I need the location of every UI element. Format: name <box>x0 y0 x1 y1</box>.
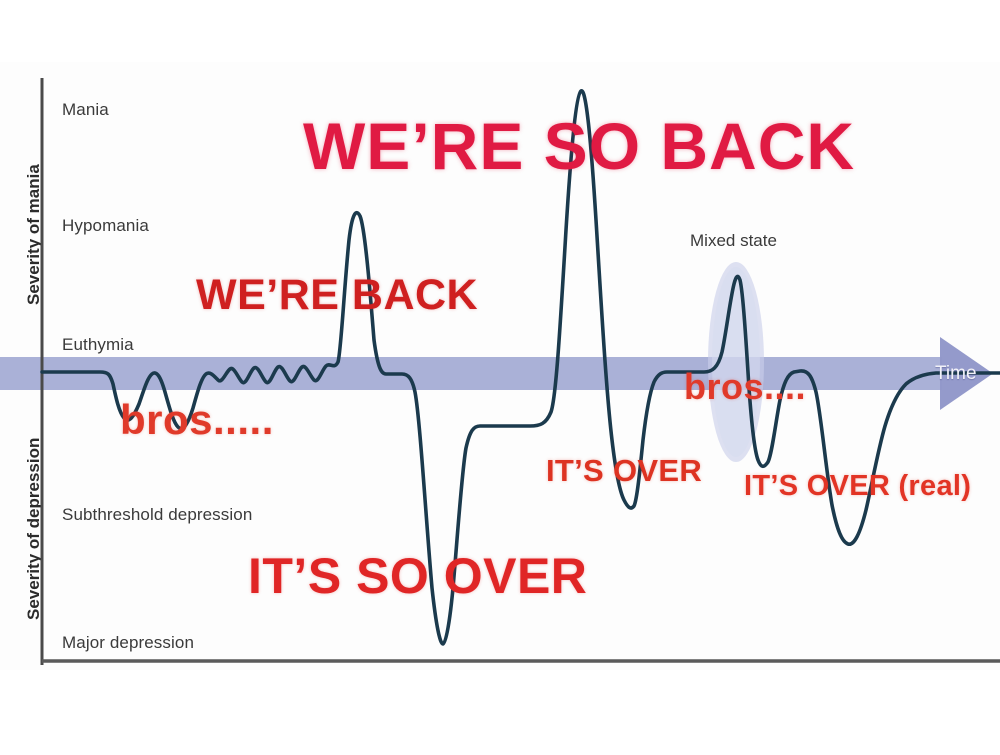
meme-text-its-so-over: IT’S SO OVER <box>248 547 587 605</box>
meme-text-were-back-label: WE’RE BACK <box>196 271 478 319</box>
meme-text-its-over: IT’S OVER <box>546 453 702 489</box>
chart-plot-area: Mania Hypomania Euthymia Subthreshold de… <box>0 0 1000 755</box>
meme-text-bros-left-label: bros..... <box>120 396 274 443</box>
meme-text-were-so-back: WE’RE SO BACK <box>303 108 855 184</box>
meme-text-its-so-over-label: IT’S SO OVER <box>248 548 587 604</box>
meme-text-its-over-real: IT’S OVER (real) <box>744 470 971 503</box>
meme-text-were-so-back-label: WE’RE SO BACK <box>303 109 855 183</box>
meme-text-bros-right-label: bros.... <box>684 366 806 407</box>
time-axis-label: Time <box>935 363 977 385</box>
meme-text-its-over-real-label: IT’S OVER (real) <box>744 470 971 502</box>
meme-text-bros-left: bros..... <box>120 396 274 444</box>
top-white-margin <box>0 0 1000 62</box>
meme-chart-canvas: Mania Hypomania Euthymia Subthreshold de… <box>0 0 1000 755</box>
meme-text-were-back: WE’RE BACK <box>196 271 478 320</box>
meme-text-its-over-label: IT’S OVER <box>546 453 702 488</box>
time-axis-label-text: Time <box>935 363 977 384</box>
meme-text-bros-right: bros.... <box>684 366 806 408</box>
bottom-white-margin <box>0 670 1000 755</box>
